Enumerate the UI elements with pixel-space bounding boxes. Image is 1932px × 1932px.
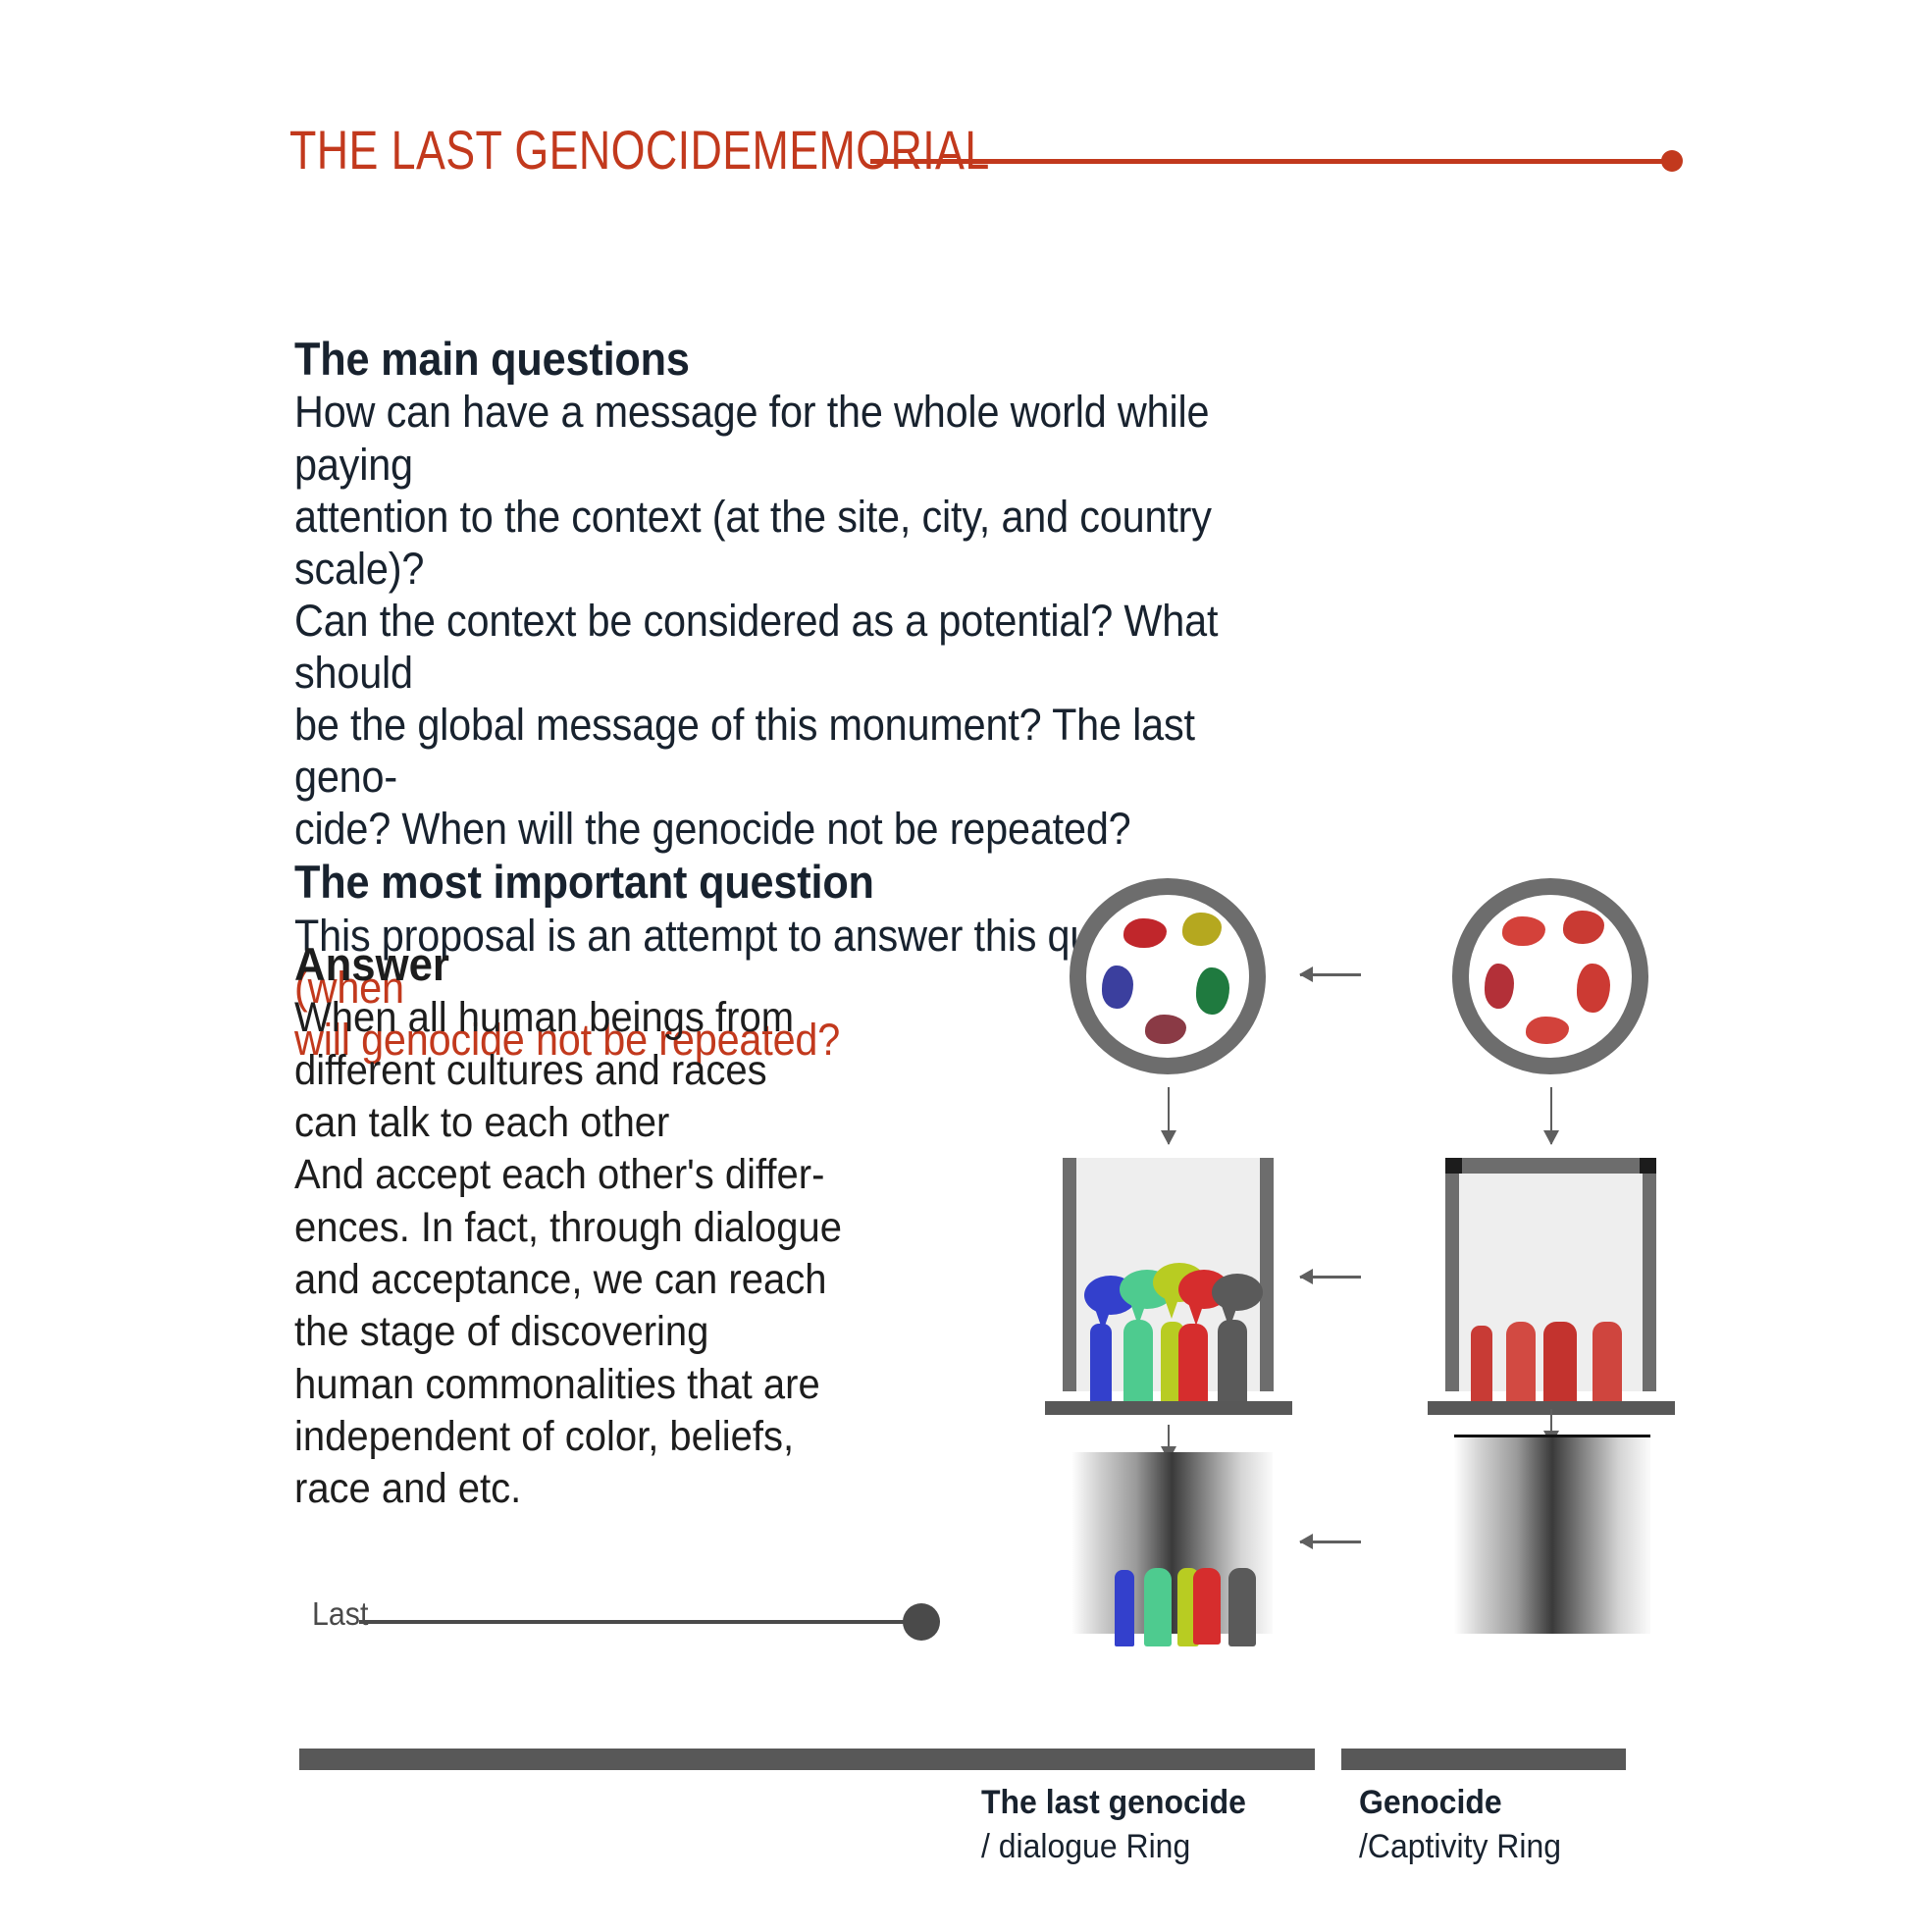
leader-end-dot-icon xyxy=(903,1603,940,1641)
plan-figure-red xyxy=(1123,918,1167,948)
main-questions-line-4: be the global message of this monument? … xyxy=(294,699,1279,803)
caption-dialogue-bold: The last genocide xyxy=(981,1781,1246,1825)
page-title: THE LAST GENOCIDEMEMORIAL xyxy=(289,123,990,178)
concept-diagram xyxy=(1020,863,1707,1609)
plan-to-elevation-right-arrow-icon xyxy=(1550,1087,1552,1144)
captivity-ring-plan xyxy=(1452,878,1648,1074)
captivity-column-right xyxy=(1643,1158,1656,1391)
answer-line-6: and acceptance, we can reach xyxy=(294,1254,933,1306)
plan-figure-red-3 xyxy=(1485,964,1514,1009)
plan-right-to-left-arrow-icon xyxy=(1300,973,1361,976)
answer-line-7: the stage of discovering xyxy=(294,1306,933,1358)
captivity-figure-1 xyxy=(1471,1326,1492,1408)
elevation-figure-gray xyxy=(1218,1320,1247,1408)
plan-figure-red-5 xyxy=(1526,1017,1569,1044)
cylinder-right-to-left-arrow-icon xyxy=(1300,1540,1361,1543)
last-leader-row: Last xyxy=(312,1590,940,1639)
answer-line-10: race and etc. xyxy=(294,1463,933,1515)
answer-line-1: When all human beings from xyxy=(294,992,933,1044)
answer-line-9: independent of color, beliefs, xyxy=(294,1411,933,1463)
cylinder-figure-red xyxy=(1193,1568,1221,1645)
speech-bubble-gray-icon xyxy=(1212,1274,1263,1311)
plan-figure-red-2 xyxy=(1563,911,1604,944)
captivity-figure-3 xyxy=(1543,1322,1577,1408)
answer-line-5: ences. In fact, through dialogue xyxy=(294,1202,933,1254)
caption-captivity-bold: Genocide xyxy=(1359,1781,1561,1825)
ground-line-right xyxy=(1341,1749,1626,1770)
plan-figure-blue xyxy=(1102,966,1133,1009)
main-questions-line-2: attention to the context (at the site, c… xyxy=(294,491,1279,595)
captivity-elevation xyxy=(1445,1158,1656,1408)
cylinder-figure-gray xyxy=(1228,1568,1256,1646)
caption-dialogue-sub: / dialogue Ring xyxy=(981,1825,1246,1869)
caption-captivity: Genocide /Captivity Ring xyxy=(1359,1781,1574,1869)
captivity-cylinder xyxy=(1454,1437,1650,1634)
plan-figure-olive xyxy=(1182,913,1222,946)
captivity-lintel xyxy=(1445,1158,1656,1174)
title-end-dot-icon xyxy=(1661,150,1683,172)
main-questions-line-1: How can have a message for the whole wor… xyxy=(294,386,1279,490)
plan-figure-green xyxy=(1196,967,1229,1015)
captivity-figure-4 xyxy=(1593,1322,1622,1408)
dialogue-ring-plan xyxy=(1070,878,1266,1074)
captivity-lintel-cap-left xyxy=(1445,1158,1462,1174)
answer-line-8: human commonalities that are xyxy=(294,1359,933,1411)
dialogue-plinth xyxy=(1045,1401,1292,1415)
ground-line-left xyxy=(299,1749,1315,1770)
answer-text-block: Answer When all human beings from differ… xyxy=(294,937,981,1516)
last-label: Last xyxy=(312,1595,368,1633)
captivity-figure-2 xyxy=(1506,1322,1536,1408)
plan-figure-red-4 xyxy=(1577,964,1610,1013)
main-questions-heading: The main questions xyxy=(294,332,1279,386)
board-title-row: THE LAST GENOCIDEMEMORIAL xyxy=(289,116,1683,184)
answer-line-4: And accept each other's differ- xyxy=(294,1149,933,1201)
plan-to-elevation-left-arrow-icon xyxy=(1168,1087,1170,1144)
main-questions-line-3: Can the context be considered as a poten… xyxy=(294,595,1279,699)
answer-heading: Answer xyxy=(294,937,933,992)
elevation-right-to-left-arrow-icon xyxy=(1300,1276,1361,1279)
presentation-board: THE LAST GENOCIDEMEMORIAL The main quest… xyxy=(0,0,1932,1932)
dialogue-column-right xyxy=(1260,1158,1274,1391)
dialogue-elevation xyxy=(1063,1158,1274,1408)
main-questions-line-5: cide? When will the genocide not be repe… xyxy=(294,803,1279,855)
answer-line-2: different cultures and races xyxy=(294,1045,933,1097)
plan-figure-red-1 xyxy=(1502,916,1545,946)
elevation-figure-green xyxy=(1123,1320,1153,1408)
cylinder-figure-blue xyxy=(1115,1570,1134,1646)
plan-figure-maroon xyxy=(1145,1015,1186,1044)
captivity-column-left xyxy=(1445,1158,1459,1391)
caption-captivity-sub: /Captivity Ring xyxy=(1359,1825,1561,1869)
last-leader-line xyxy=(359,1620,907,1624)
answer-line-3: can talk to each other xyxy=(294,1097,933,1149)
cylinder-figure-green xyxy=(1144,1568,1172,1646)
caption-dialogue: The last genocide / dialogue Ring xyxy=(981,1781,1263,1869)
elevation-figure-red xyxy=(1178,1324,1208,1408)
captivity-lintel-cap-right xyxy=(1640,1158,1656,1174)
dialogue-column-left xyxy=(1063,1158,1076,1391)
elevation-figure-blue xyxy=(1090,1324,1112,1408)
